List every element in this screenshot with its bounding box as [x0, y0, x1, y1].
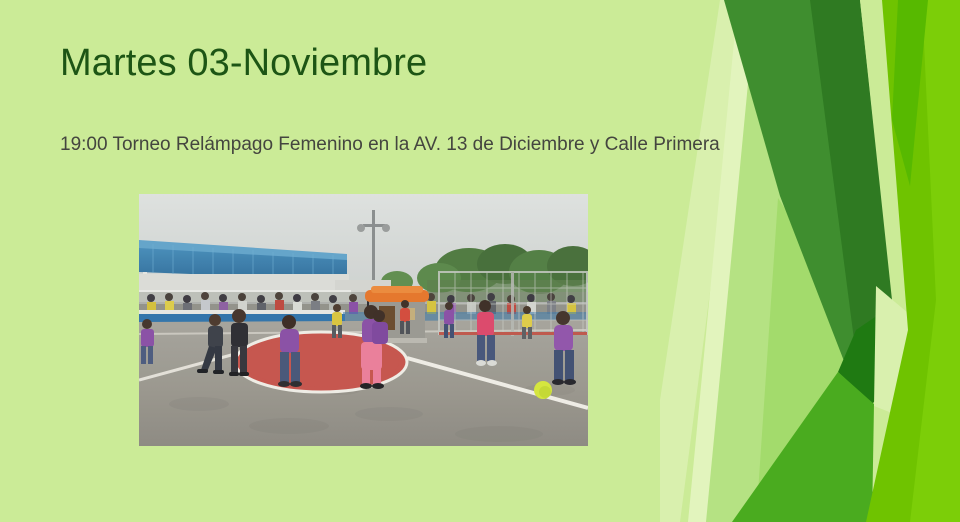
decor-shape-light-wedge	[706, 0, 856, 522]
decor-shape-light-wedge-2	[756, 198, 856, 522]
decor-shape-bright-right-3	[892, 0, 928, 186]
decor-shape-bright-right-2	[910, 0, 960, 522]
event-photo	[139, 194, 588, 446]
decor-shape-deep-notch	[838, 300, 900, 404]
decor-shape-pale-sliver	[660, 0, 748, 522]
decorative-angular-band	[660, 0, 960, 522]
decor-shape-vivid-lower	[732, 372, 874, 522]
decor-shape-pale-right-wedge-2	[874, 286, 914, 420]
presentation-slide: Martes 03-Noviembre 19:00 Torneo Relámpa…	[0, 0, 960, 522]
decor-shape-bright-right	[866, 0, 960, 522]
slide-title: Martes 03-Noviembre	[60, 42, 660, 86]
decor-shape-pale-base	[660, 0, 960, 522]
decor-shape-pale-right-wedge	[860, 0, 906, 404]
decor-shape-dark-wedge-inner	[810, 0, 896, 386]
decor-shape-dark-wedge	[724, 0, 886, 392]
decor-shape-pale-sliver-2	[688, 0, 756, 522]
photo-grade	[139, 194, 588, 446]
slide-subtitle: 19:00 Torneo Relámpago Femenino en la AV…	[60, 133, 700, 157]
